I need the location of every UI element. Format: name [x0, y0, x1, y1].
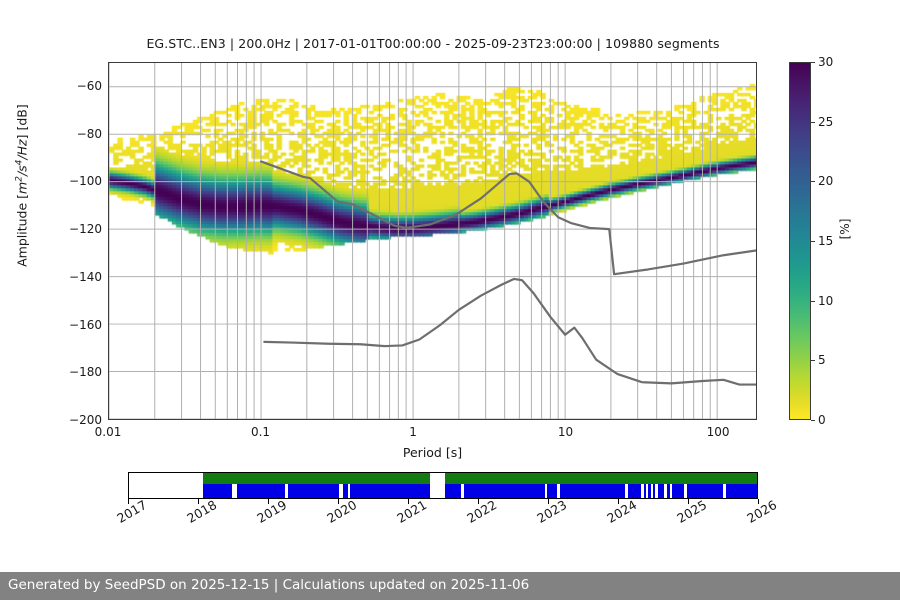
colorbar-gradient	[790, 63, 810, 419]
coverage-green-segment	[203, 473, 430, 484]
coverage-blue-segment	[687, 484, 723, 499]
coverage-blue-segment	[644, 484, 647, 499]
coverage-blue-segment	[203, 484, 232, 499]
psd-figure: EG.STC..EN3 | 200.0Hz | 2017-01-01T00:00…	[0, 0, 900, 600]
coverage-blue-segment	[648, 484, 651, 499]
x-tick-1: 0.1	[251, 425, 270, 439]
coverage-blue-segment	[237, 484, 285, 499]
coverage-blue-segment	[726, 484, 757, 499]
coverage-blue-segment	[658, 484, 664, 499]
psd-density-heatmap	[109, 63, 756, 419]
colorbar-tick-0: 0	[811, 413, 826, 427]
y-tick-6: −180	[46, 365, 102, 379]
colorbar-tick-1: 5	[811, 353, 826, 367]
x-tick-2: 1	[409, 425, 417, 439]
x-tick-4: 100	[707, 425, 730, 439]
coverage-green-segment	[445, 473, 757, 484]
y-tick-3: −120	[46, 222, 102, 236]
coverage-blue-segment	[672, 484, 684, 499]
colorbar-tick-3: 15	[811, 234, 833, 248]
colorbar-label: [%]	[838, 194, 852, 264]
y-tick-2: −100	[46, 174, 102, 188]
coverage-blue-segment	[560, 484, 625, 499]
coverage-blue-segment	[288, 484, 339, 499]
psd-plot-area	[108, 62, 757, 420]
y-tick-4: −140	[46, 270, 102, 284]
y-tick-0: −60	[46, 79, 102, 93]
timeline-year-labels: 2017201820192020202120222023202420252026	[128, 505, 758, 545]
x-axis-label: Period [s]	[108, 445, 757, 460]
y-axis-label: Amplitude [m2/s4/Hz] [dB]	[14, 36, 29, 336]
y-axis-ticks: −60−80−100−120−140−160−180−200	[40, 62, 102, 420]
colorbar-tick-2: 10	[811, 294, 833, 308]
coverage-blue-segment	[445, 484, 461, 499]
colorbar-tick-6: 30	[811, 55, 833, 69]
page-title: EG.STC..EN3 | 200.0Hz | 2017-01-01T00:00…	[108, 36, 758, 51]
y-tick-1: −80	[46, 127, 102, 141]
footer-bar: Generated by SeedPSD on 2025-12-15 | Cal…	[0, 572, 900, 600]
footer-text: Generated by SeedPSD on 2025-12-15 | Cal…	[8, 577, 529, 593]
coverage-blue-segment	[667, 484, 670, 499]
y-tick-5: −160	[46, 318, 102, 332]
colorbar-tick-5: 25	[811, 115, 833, 129]
coverage-blue-segment	[653, 484, 656, 499]
colorbar-tick-4: 20	[811, 174, 833, 188]
y-tick-7: −200	[46, 413, 102, 427]
coverage-timeline	[128, 472, 758, 499]
coverage-blue-segment	[350, 484, 430, 499]
coverage-blue-segment	[547, 484, 557, 499]
x-axis-ticks: 0.010.1110100	[108, 425, 757, 443]
x-tick-3: 10	[558, 425, 573, 439]
x-tick-0: 0.01	[95, 425, 122, 439]
coverage-blue-segment	[464, 484, 544, 499]
coverage-blue-segment	[628, 484, 641, 499]
timeline-label-2017: 2017	[114, 497, 149, 526]
colorbar	[789, 62, 811, 420]
coverage-blue-segment	[343, 484, 348, 499]
